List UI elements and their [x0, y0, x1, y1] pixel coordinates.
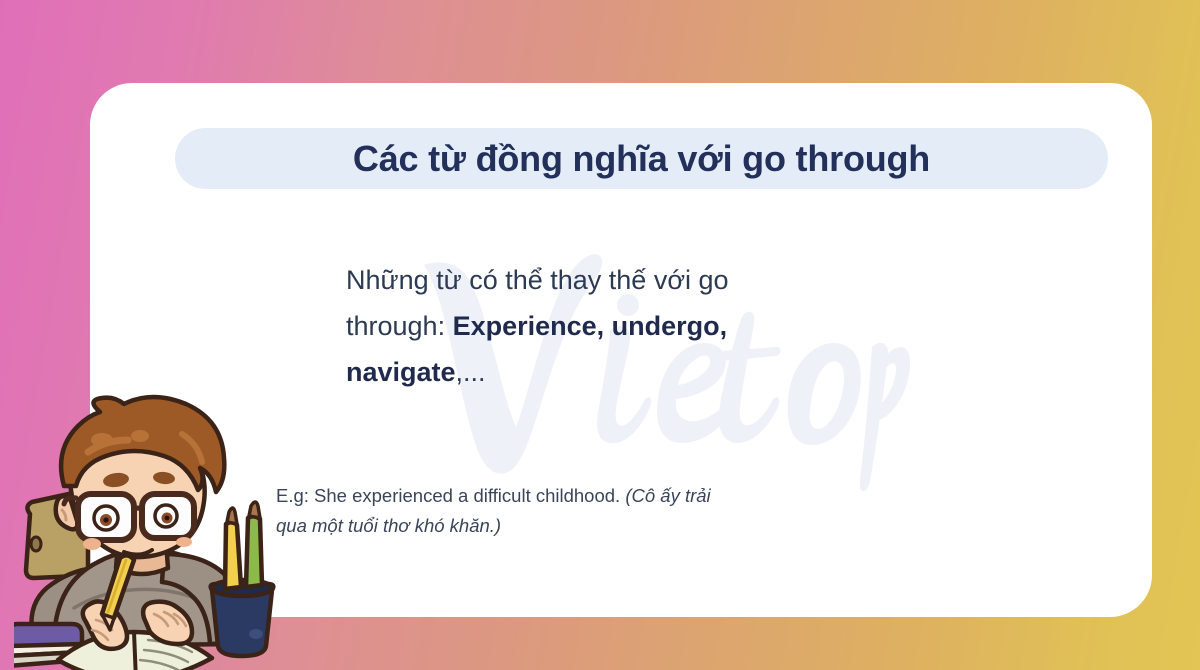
example-line-1: E.g: She experienced a difficult childho…: [276, 481, 1036, 511]
notebook-spine: [134, 632, 136, 670]
page-title: Các từ đồng nghĩa với go through: [353, 138, 930, 180]
cheek-blush-right: [176, 537, 192, 547]
body-line-1: Những từ có thể thay thế với go: [346, 257, 886, 303]
hair-highlight-2: [91, 433, 113, 447]
example-sentence: E.g: She experienced a difficult childho…: [276, 481, 1036, 541]
cup-pencil-green-tip: [249, 502, 260, 518]
pencil-cup-shine: [249, 629, 263, 639]
example-line-2-italic: qua một tuổi thơ khó khăn.): [276, 515, 501, 536]
body-line-2-bold: Experience, undergo,: [453, 311, 728, 341]
boy-studying-illustration: [14, 394, 304, 670]
body-line-3-tail: ,...: [456, 357, 486, 387]
left-pupil-center: [103, 517, 108, 522]
hair-highlight-3: [131, 430, 149, 442]
body-line-3: navigate,...: [346, 349, 886, 395]
cup-pencil-yellow-tip: [227, 508, 237, 524]
title-pill: Các từ đồng nghĩa với go through: [175, 128, 1108, 189]
chair-knob-icon: [31, 537, 41, 551]
body-line-2: through: Experience, undergo,: [346, 303, 886, 349]
glasses-bridge: [134, 508, 142, 510]
cup-pencil-green: [246, 516, 262, 587]
right-pupil-center: [165, 516, 170, 521]
example-line-1-plain: E.g: She experienced a difficult childho…: [276, 485, 625, 506]
body-line-3-bold: navigate: [346, 357, 456, 387]
body-line-2-plain: through:: [346, 311, 453, 341]
cup-pencil-yellow: [225, 522, 241, 589]
body-paragraph: Những từ có thể thay thế với go through:…: [346, 257, 886, 395]
example-line-2: qua một tuổi thơ khó khăn.): [276, 511, 1036, 541]
cheek-blush-left: [83, 538, 101, 550]
example-line-1-italic: (Cô ấy trải: [625, 485, 710, 506]
